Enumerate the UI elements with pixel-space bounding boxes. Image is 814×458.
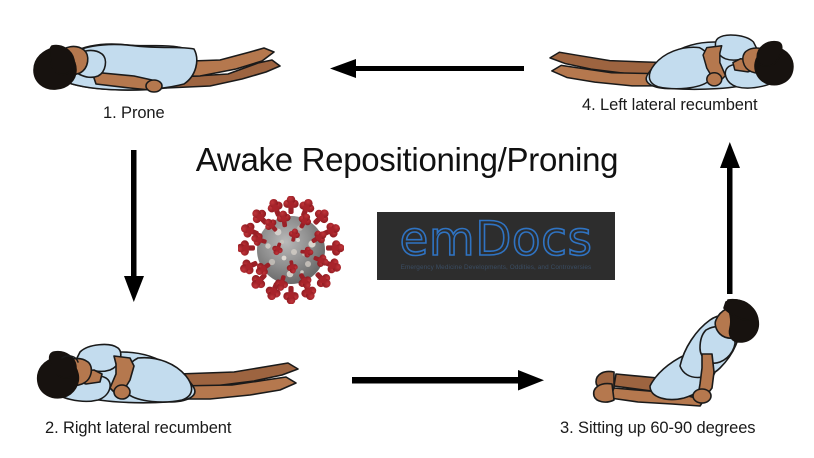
figure-prone [14, 16, 292, 100]
figure-sitting-up [588, 296, 766, 408]
position-3-label: 3. Sitting up 60-90 degrees [560, 419, 755, 438]
position-4-label: 4. Left lateral recumbent [582, 96, 757, 115]
arrow-1-to-2 [122, 150, 146, 302]
arrow-4-to-1 [330, 58, 524, 80]
emdocs-logo: emDocs Emergency Medicine Developments, … [377, 212, 615, 280]
emdocs-tagline: Emergency Medicine Developments, Odditie… [377, 264, 615, 271]
infographic-canvas: 1. Prone 2 [0, 0, 814, 458]
arrow-2-to-3 [352, 368, 544, 392]
position-1-label: 1. Prone [103, 104, 165, 123]
figure-right-lateral-recumbent [18, 322, 308, 412]
arrow-3-to-4 [718, 142, 742, 294]
emdocs-wordmark: emDocs [377, 212, 615, 268]
figure-left-lateral-recumbent [540, 14, 812, 98]
sars-cov-2-illustration [238, 196, 344, 304]
position-2-label: 2. Right lateral recumbent [45, 419, 231, 438]
